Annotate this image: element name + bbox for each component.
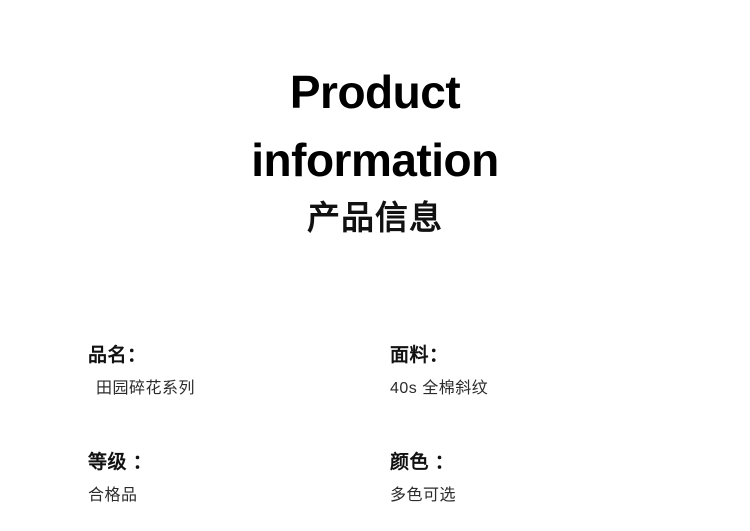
page-title: Product information: [0, 58, 750, 194]
page-title-line-1: Product: [0, 58, 750, 126]
spec-label-fabric: 面料：: [390, 343, 662, 369]
spec-value-product-name: 田园碎花系列: [88, 377, 390, 401]
page-title-line-2: information: [0, 126, 750, 194]
spec-value-color: 多色可选: [390, 484, 662, 508]
spec-value-fabric: 40s 全棉斜纹: [390, 377, 662, 401]
spec-item-product-name: 品名： 田园碎花系列: [88, 343, 390, 401]
spec-row: 等级 ： 合格品 颜色 ： 多色可选: [88, 450, 662, 508]
spec-item-fabric: 面料： 40s 全棉斜纹: [390, 343, 662, 401]
spec-label-product-name: 品名：: [88, 343, 390, 369]
product-spec-grid: 品名： 田园碎花系列 面料： 40s 全棉斜纹 等级 ： 合格品 颜色 ： 多色…: [88, 343, 662, 508]
spec-item-grade: 等级 ： 合格品: [88, 450, 390, 508]
spec-label-grade: 等级 ：: [88, 450, 390, 476]
spec-row: 品名： 田园碎花系列 面料： 40s 全棉斜纹: [88, 343, 662, 401]
page-subtitle: 产品信息: [0, 198, 750, 238]
spec-value-grade: 合格品: [88, 484, 390, 508]
spec-item-color: 颜色 ： 多色可选: [390, 450, 662, 508]
product-information-page: Product information 产品信息 品名： 田园碎花系列 面料： …: [0, 0, 750, 531]
spec-label-color: 颜色 ：: [390, 450, 662, 476]
